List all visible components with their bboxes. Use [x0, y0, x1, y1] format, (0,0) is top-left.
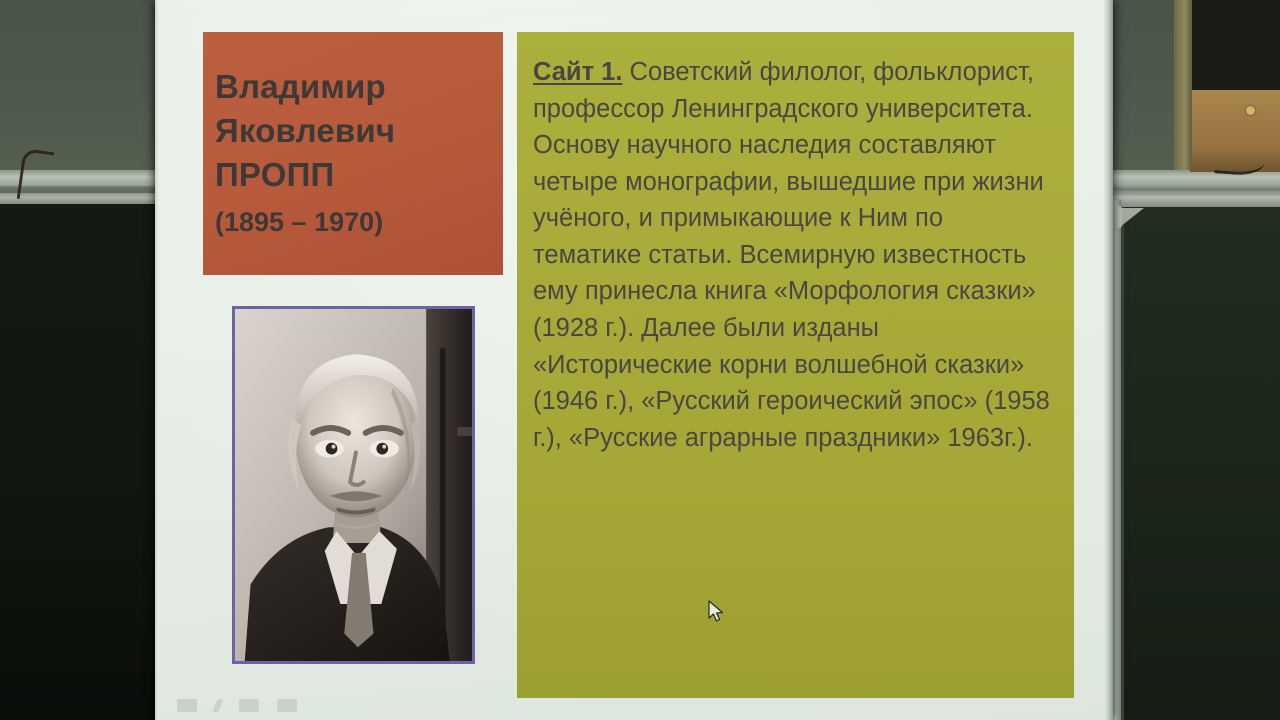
- slide-body-lead: Сайт 1.: [533, 58, 622, 86]
- taskbar-faint: [155, 694, 427, 716]
- wall-cabinet-dark-panel: [1190, 0, 1280, 92]
- taskbar-icon-2: [212, 699, 223, 712]
- slide-title-box: Владимир Яковлевич ПРОПП (1895 – 1970): [203, 32, 503, 275]
- portrait-illustration-icon: [235, 309, 472, 661]
- chalkboard-right: [1124, 202, 1280, 720]
- screen-right-edge: [1104, 0, 1113, 720]
- portrait-photo: [232, 306, 475, 664]
- wall-cabinet-edge: [1174, 0, 1192, 170]
- slide-body-main: Советский филолог, фольклорист, профессо…: [533, 58, 1050, 452]
- taskbar-icon-3: [239, 699, 259, 712]
- screenshot-root: Владимир Яковлевич ПРОПП (1895 – 1970): [0, 0, 1280, 720]
- taskbar-icon-4: [277, 699, 297, 712]
- slide-title-dates: (1895 – 1970): [215, 204, 503, 242]
- slide-title-line-1: Владимир: [215, 65, 503, 109]
- chalkboard-frame-top: [1108, 196, 1280, 207]
- slide-title-line-3: ПРОПП: [215, 153, 503, 197]
- screen-left-edge: [155, 0, 159, 720]
- chalkboard-left: [0, 204, 160, 720]
- slide-body-text: Сайт 1. Советский филолог, фольклорист, …: [533, 54, 1056, 456]
- slide-title-line-2: Яковлевич: [215, 109, 503, 153]
- mouse-pointer-icon: [708, 600, 725, 623]
- taskbar-icon-1: [177, 699, 197, 712]
- wall-cabinet-knob-icon: [1246, 106, 1255, 115]
- slide-text-box: Сайт 1. Советский филолог, фольклорист, …: [517, 32, 1074, 698]
